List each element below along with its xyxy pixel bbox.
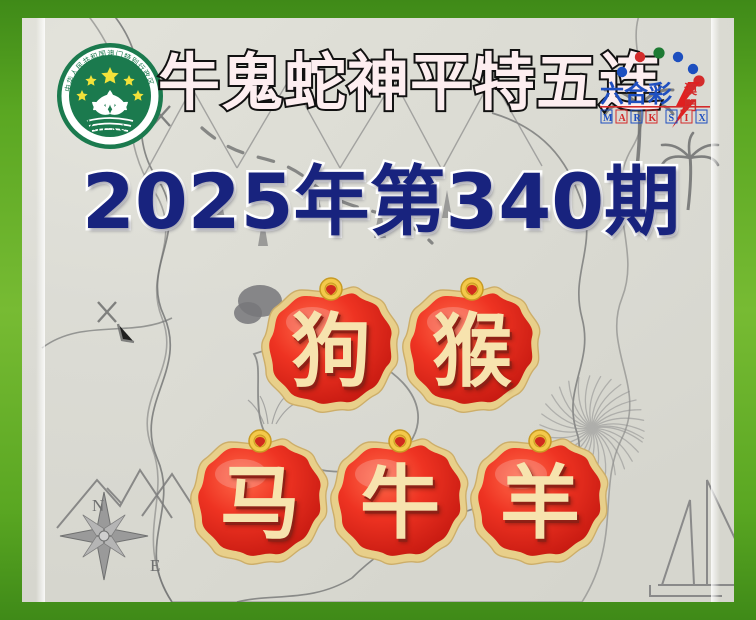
badge-shape-icon (329, 428, 471, 570)
zodiac-badge[interactable]: 猴 (401, 276, 543, 418)
badge-shape-icon (469, 428, 611, 570)
zodiac-badge-group: 狗 猴 (22, 18, 734, 602)
badge-shape-icon (189, 428, 331, 570)
badge-shape-icon (401, 276, 543, 418)
lottery-poster: N E 中华人民共和国澳门特别行政区 (0, 0, 756, 620)
zodiac-badge[interactable]: 羊 (469, 428, 611, 570)
zodiac-badge[interactable]: 狗 (260, 276, 402, 418)
zodiac-badge[interactable]: 马 (189, 428, 331, 570)
zodiac-badge[interactable]: 牛 (329, 428, 471, 570)
poster-inner-frame: N E 中华人民共和国澳门特别行政区 (22, 18, 734, 602)
badge-shape-icon (260, 276, 402, 418)
